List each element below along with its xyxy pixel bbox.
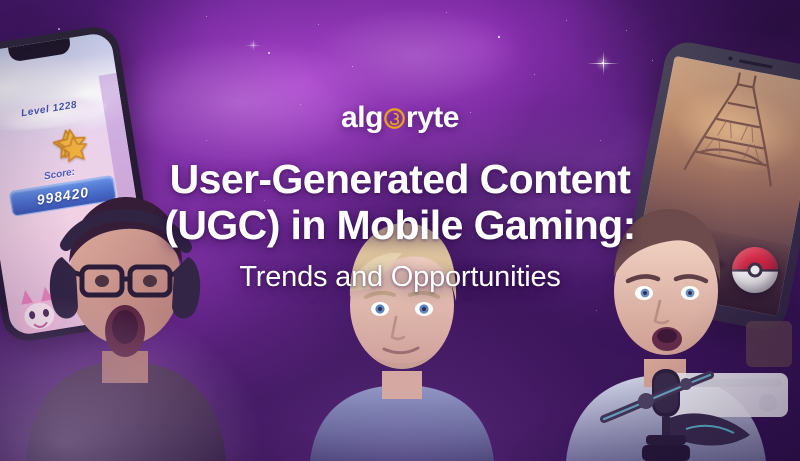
star-sparkle-icon bbox=[602, 62, 604, 64]
hero-title-block: User-Generated Content (UGC) in Mobile G… bbox=[0, 156, 800, 294]
logo-text-before: alg bbox=[341, 103, 383, 133]
star-sparkle-icon bbox=[252, 44, 253, 45]
hero-subtitle: Trends and Opportunities bbox=[0, 261, 800, 294]
algoryte-emblem-icon bbox=[384, 108, 405, 129]
title-line-1: User-Generated Content bbox=[0, 156, 800, 202]
earpiece-speaker bbox=[738, 59, 772, 68]
logo-text-after: ryte bbox=[406, 103, 459, 133]
headset-boom-arm bbox=[600, 357, 720, 427]
ugc-mobile-gaming-hero-banner: Level 1228 Score: bbox=[0, 0, 800, 461]
title-line-2: (UGC) in Mobile Gaming: bbox=[0, 202, 800, 248]
algoryte-logo[interactable]: alg ryte bbox=[0, 103, 800, 133]
front-camera-icon bbox=[728, 56, 733, 61]
